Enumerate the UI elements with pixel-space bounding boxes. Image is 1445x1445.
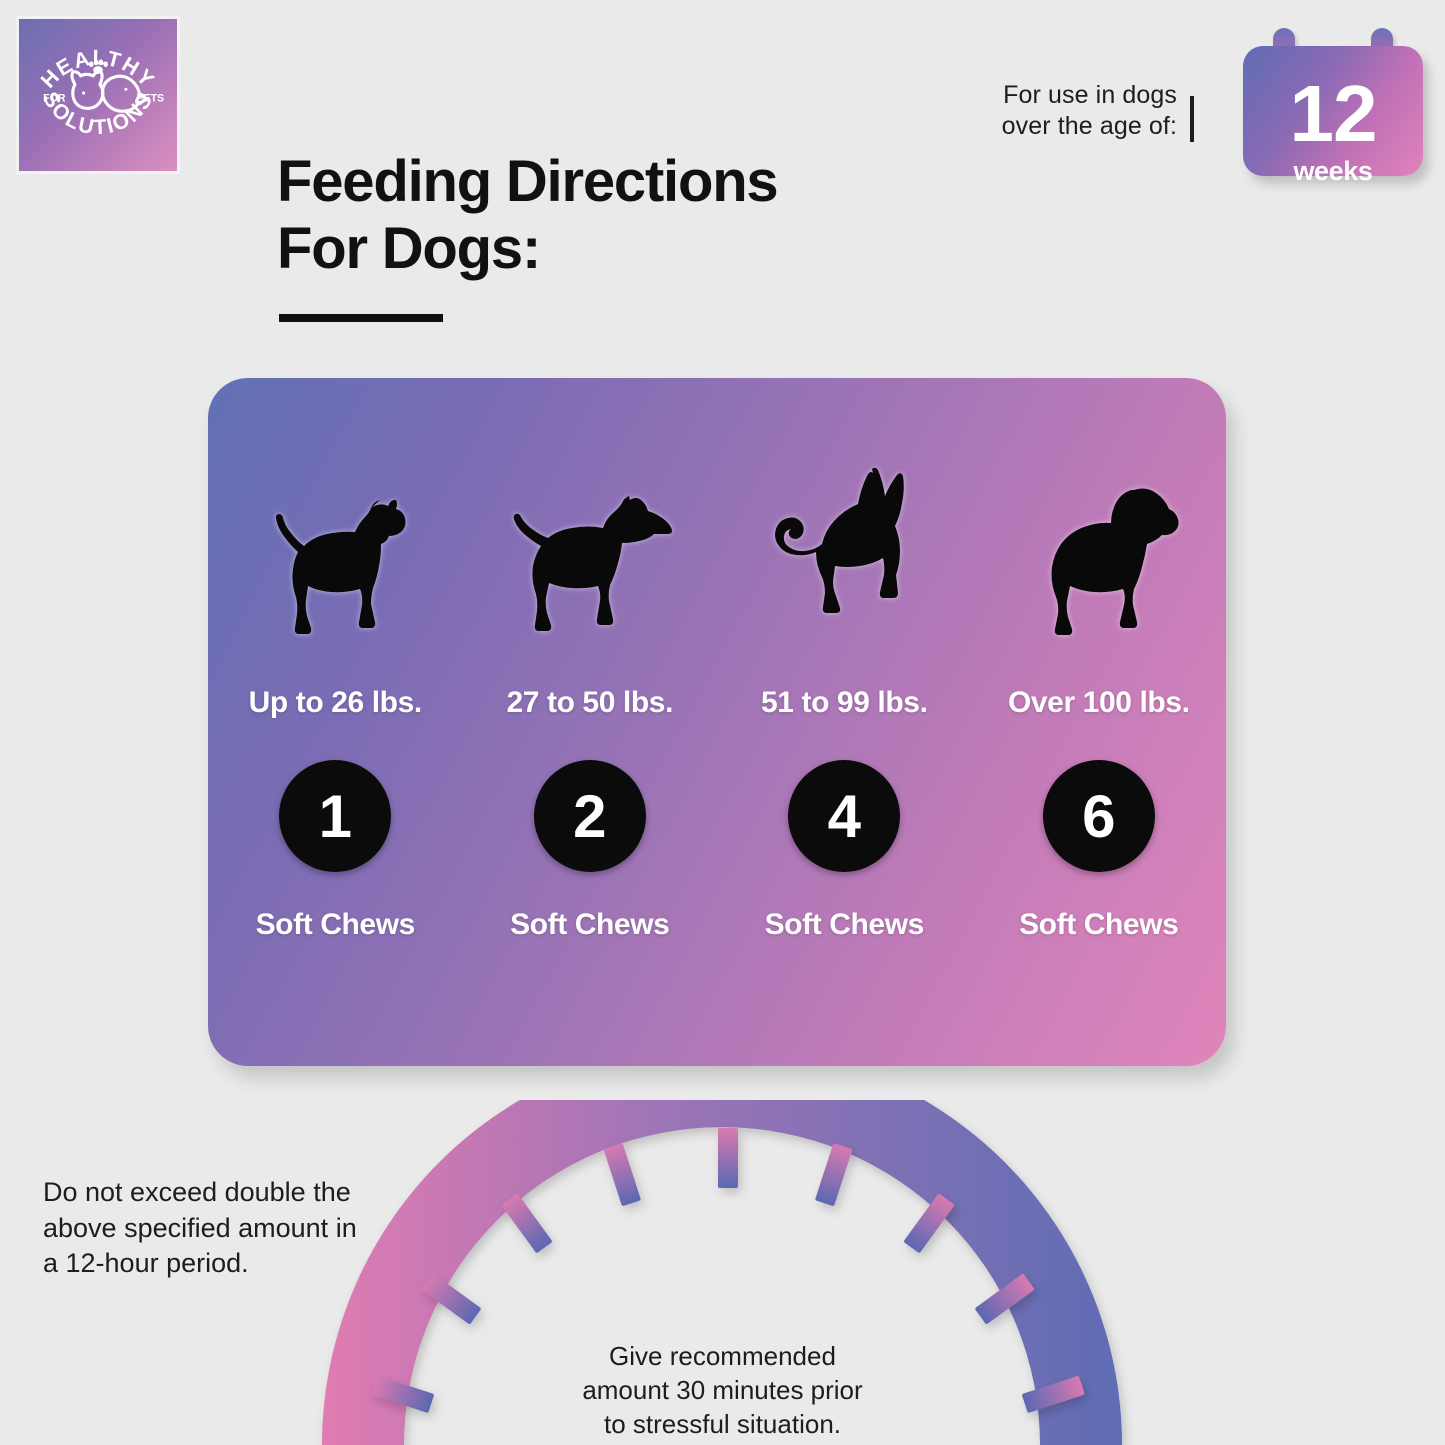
dose-count: 1 <box>319 782 352 851</box>
dose-count: 4 <box>828 782 861 851</box>
arc-text-line2: amount 30 minutes prior <box>0 1374 1445 1408</box>
page-title: Feeding Directions For Dogs: <box>277 148 1037 283</box>
calendar-number: 12 <box>1243 76 1423 152</box>
dose-badge: 6 <box>1043 760 1155 872</box>
vertical-divider <box>1190 96 1194 142</box>
feeding-column: 51 to 99 lbs. 4 Soft Chews <box>717 378 972 1066</box>
mastiff-dog-silhouette-icon <box>972 378 1227 648</box>
dose-count: 6 <box>1082 782 1115 851</box>
dose-unit: Soft Chews <box>1019 908 1178 942</box>
dose-unit: Soft Chews <box>256 908 415 942</box>
weight-label: 27 to 50 lbs. <box>506 686 673 720</box>
logo-for-text: FOR <box>43 93 66 105</box>
feeding-chart-card: Up to 26 lbs. 1 Soft Chews 27 to 50 lbs.… <box>208 378 1226 1066</box>
dose-count: 2 <box>573 782 606 851</box>
arc-text-line1: Give recommended <box>0 1340 1445 1374</box>
age-note-line2: over the age of: <box>1002 111 1177 142</box>
weight-label: 51 to 99 lbs. <box>761 686 928 720</box>
title-underline <box>279 314 443 322</box>
dose-unit: Soft Chews <box>765 908 924 942</box>
arc-text-line3: to stressful situation. <box>0 1408 1445 1442</box>
dose-unit: Soft Chews <box>510 908 669 942</box>
age-note: For use in dogs over the age of: <box>1002 80 1177 143</box>
calendar-icon: 12 weeks <box>1243 28 1423 176</box>
dose-badge: 4 <box>788 760 900 872</box>
weight-label: Up to 26 lbs. <box>249 686 422 720</box>
dose-badge: 1 <box>279 760 391 872</box>
medium-dog-silhouette-icon <box>463 378 718 648</box>
logo-artwork: HEALTHY SOLUTIONS FOR PETS <box>19 19 177 171</box>
weight-label: Over 100 lbs. <box>1008 686 1190 720</box>
arc-instruction-text: Give recommended amount 30 minutes prior… <box>0 1340 1445 1441</box>
feeding-column: Up to 26 lbs. 1 Soft Chews <box>208 378 463 1066</box>
calendar-body: 12 weeks <box>1243 46 1423 176</box>
terrier-dog-silhouette-icon <box>208 378 463 648</box>
calendar-unit: weeks <box>1243 156 1423 187</box>
page-title-line1: Feeding Directions <box>277 148 1037 215</box>
shepherd-dog-silhouette-icon <box>717 378 972 648</box>
age-note-line1: For use in dogs <box>1002 80 1177 111</box>
dose-badge: 2 <box>534 760 646 872</box>
brand-logo: HEALTHY SOLUTIONS FOR PETS <box>16 16 180 174</box>
feeding-column: Over 100 lbs. 6 Soft Chews <box>972 378 1227 1066</box>
page-title-line2: For Dogs: <box>277 215 1037 282</box>
feeding-column: 27 to 50 lbs. 2 Soft Chews <box>463 378 718 1066</box>
